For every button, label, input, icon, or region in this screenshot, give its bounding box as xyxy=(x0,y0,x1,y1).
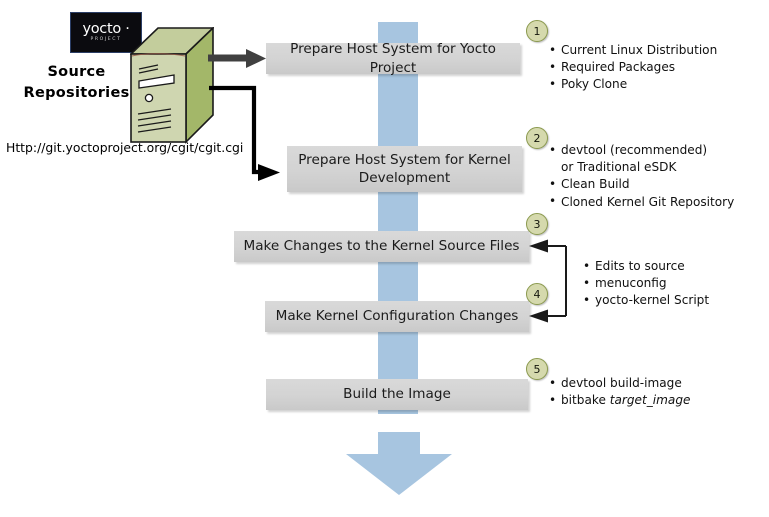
step-number-5-label: 5 xyxy=(534,363,541,376)
list-item: Edits to source xyxy=(582,258,709,275)
source-repositories-label-line2: Repositories xyxy=(14,83,139,104)
step-number-2-label: 2 xyxy=(534,132,541,145)
step-number-3-label: 3 xyxy=(534,218,541,231)
process-box-label: Build the Image xyxy=(343,385,451,403)
list-item: Required Packages xyxy=(548,59,717,76)
step-1-bullets: Current Linux Distribution Required Pack… xyxy=(548,42,717,94)
diagram-canvas: yocto · PROJECT Source Repositories Http… xyxy=(0,0,769,517)
step-number-4-label: 4 xyxy=(534,288,541,301)
flow-terminal-arrow-icon xyxy=(344,432,454,496)
step-number-3: 3 xyxy=(526,213,548,235)
step-number-2: 2 xyxy=(526,127,548,149)
list-item: bitbake target_image xyxy=(548,392,690,409)
process-box-prepare-host-yocto[interactable]: Prepare Host System for Yocto Project xyxy=(266,43,520,74)
step-number-5: 5 xyxy=(526,358,548,380)
list-item: devtool (recommended) or Traditional eSD… xyxy=(548,142,721,176)
server-icon xyxy=(130,27,214,144)
step-number-1: 1 xyxy=(526,20,548,42)
steps-3-4-shared-bullets: Edits to source menuconfig yocto-kernel … xyxy=(582,258,709,310)
list-item-emphasis: target_image xyxy=(610,393,691,407)
list-item: menuconfig xyxy=(582,275,709,292)
process-box-make-kernel-source-changes[interactable]: Make Changes to the Kernel Source Files xyxy=(234,231,529,262)
logo-wordmark: yocto · xyxy=(82,22,129,37)
process-box-label-line2: Development xyxy=(359,169,451,187)
step-5-bullets: devtool build-image bitbake target_image xyxy=(548,375,690,409)
list-item: Clean Build xyxy=(548,176,734,193)
list-item-text: bitbake xyxy=(561,393,610,407)
process-box-make-kernel-config-changes[interactable]: Make Kernel Configuration Changes xyxy=(265,301,529,332)
list-item: Poky Clone xyxy=(548,76,717,93)
process-box-prepare-host-kernel[interactable]: Prepare Host System for Kernel Developme… xyxy=(287,146,522,192)
list-item: devtool build-image xyxy=(548,375,690,392)
step-number-4: 4 xyxy=(526,283,548,305)
list-item: yocto-kernel Script xyxy=(582,292,709,309)
process-box-label: Make Kernel Configuration Changes xyxy=(276,307,519,325)
logo-subtitle: PROJECT xyxy=(90,38,121,43)
source-repositories-label-line1: Source xyxy=(14,62,139,83)
step-number-1-label: 1 xyxy=(534,25,541,38)
step-2-bullets: devtool (recommended) or Traditional eSD… xyxy=(548,142,734,211)
list-item-text: devtool build-image xyxy=(561,376,682,390)
source-repositories-label: Source Repositories xyxy=(14,62,139,104)
process-box-build-the-image[interactable]: Build the Image xyxy=(266,379,528,410)
process-box-label: Make Changes to the Kernel Source Files xyxy=(243,237,519,255)
process-box-label: Prepare Host System for Yocto Project xyxy=(274,40,512,77)
process-box-label-line1: Prepare Host System for Kernel xyxy=(298,151,511,169)
list-item: Cloned Kernel Git Repository xyxy=(548,194,734,211)
list-item: Current Linux Distribution xyxy=(548,42,717,59)
